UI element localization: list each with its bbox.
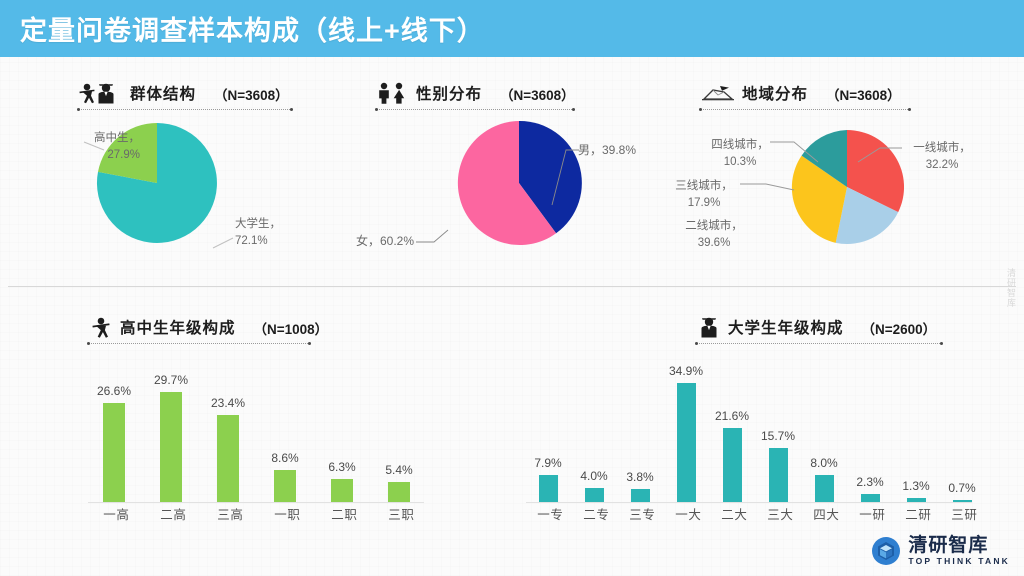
bar-职一[interactable] bbox=[274, 470, 296, 502]
bar-category-label: 大三 bbox=[765, 508, 791, 521]
pie-label-tier2: 二线城市， 39.6% bbox=[668, 218, 760, 251]
x-axis-line bbox=[526, 502, 972, 503]
brand-logo: 清研智库 TOP THINK TANK bbox=[871, 536, 1010, 566]
bar-专二[interactable] bbox=[585, 488, 604, 502]
bar-value-label: 1.3% bbox=[902, 479, 929, 493]
bar-category-label: 大二 bbox=[719, 508, 745, 521]
bar-category-label: 高一 bbox=[101, 508, 127, 521]
bar-value-label: 29.7% bbox=[154, 373, 188, 387]
chart-sample-highschool: （N=1008） bbox=[254, 318, 329, 338]
map-icon bbox=[700, 82, 736, 104]
chart-title-group: 群体结构 bbox=[130, 82, 196, 104]
chart-header-gender: 性别分布 （N=3608） bbox=[376, 82, 676, 104]
bar-value-label: 4.0% bbox=[580, 469, 607, 483]
bar-chart-highschool: 26.6%高一29.7%高二23.4%高三8.6%职一6.3%职二5.4%职三 bbox=[88, 354, 428, 504]
student-teacher-icon bbox=[78, 82, 124, 104]
bar-value-label: 26.6% bbox=[97, 384, 131, 398]
pie-label-female: 女，60.2% bbox=[314, 233, 414, 250]
brand-name-cn: 清研智库 bbox=[908, 536, 1010, 555]
bar-大一[interactable] bbox=[677, 383, 696, 502]
chart-card-region: 地域分布 （N=3608） 四线城市， 10.3% 一线城市， 32.2% bbox=[700, 82, 1010, 272]
graduate-icon bbox=[696, 316, 722, 338]
pie-label-college: 大学生， 72.1% bbox=[235, 216, 281, 249]
bar-高二[interactable] bbox=[160, 392, 182, 502]
header-rule bbox=[700, 108, 910, 110]
bar-category-label: 职二 bbox=[329, 508, 355, 521]
bar-value-label: 3.8% bbox=[626, 470, 653, 484]
running-student-icon bbox=[88, 316, 114, 338]
chart-header-highschool: 高中生年级构成 （N=1008） bbox=[88, 316, 468, 338]
brand-name-en: TOP THINK TANK bbox=[908, 557, 1010, 566]
chart-sample-college: （N=2600） bbox=[862, 318, 937, 338]
chart-title-gender: 性别分布 bbox=[416, 82, 482, 104]
header-rule bbox=[78, 108, 292, 110]
bar-value-label: 5.4% bbox=[385, 463, 412, 477]
header-rule bbox=[88, 342, 310, 344]
cube-logo-icon bbox=[871, 536, 901, 566]
bar-value-label: 23.4% bbox=[211, 396, 245, 410]
chart-card-gender: 性别分布 （N=3608） 男，39.8% 女，60.2% bbox=[376, 82, 676, 272]
bar-value-label: 34.9% bbox=[669, 364, 703, 378]
bar-category-label: 大一 bbox=[673, 508, 699, 521]
bar-大四[interactable] bbox=[815, 475, 834, 502]
bar-category-label: 职三 bbox=[386, 508, 412, 521]
pie-label-tier3: 三线城市， 17.9% bbox=[658, 178, 750, 211]
bar-研三[interactable] bbox=[953, 500, 972, 502]
bar-value-label: 7.9% bbox=[534, 456, 561, 470]
bar-category-label: 专一 bbox=[535, 508, 561, 521]
bar-专一[interactable] bbox=[539, 475, 558, 502]
header-rule bbox=[696, 342, 942, 344]
brand-logo-text: 清研智库 TOP THINK TANK bbox=[908, 536, 1010, 566]
chart-title-highschool: 高中生年级构成 bbox=[120, 316, 236, 338]
bar-category-label: 高二 bbox=[158, 508, 184, 521]
pie-label-tier4: 四线城市， 10.3% bbox=[694, 137, 786, 170]
bar-category-label: 职一 bbox=[272, 508, 298, 521]
watermark-text: 清研智库 bbox=[1005, 268, 1018, 308]
bar-大二[interactable] bbox=[723, 428, 742, 502]
slide-title-bar: 定量问卷调查样本构成（线上+线下） bbox=[0, 0, 1024, 57]
header-rule bbox=[376, 108, 574, 110]
bar-category-label: 高三 bbox=[215, 508, 241, 521]
bar-category-label: 研一 bbox=[857, 508, 883, 521]
bar-category-label: 专三 bbox=[627, 508, 653, 521]
chart-card-college: 大学生年级构成 （N=2600） 7.9%专一4.0%专二3.8%专三34.9%… bbox=[520, 316, 1000, 536]
chart-sample-gender: （N=3608） bbox=[500, 84, 575, 104]
chart-header-region: 地域分布 （N=3608） bbox=[700, 82, 1010, 104]
chart-title-college: 大学生年级构成 bbox=[728, 316, 844, 338]
chart-sample-group: （N=3608） bbox=[214, 84, 289, 104]
chart-title-region: 地域分布 bbox=[742, 82, 808, 104]
bar-category-label: 研二 bbox=[903, 508, 929, 521]
bar-研二[interactable] bbox=[907, 498, 926, 502]
bar-value-label: 2.3% bbox=[856, 475, 883, 489]
bar-category-label: 研三 bbox=[949, 508, 975, 521]
bar-category-label: 大四 bbox=[811, 508, 837, 521]
bar-value-label: 0.7% bbox=[948, 481, 975, 495]
male-female-icon bbox=[376, 82, 410, 104]
bar-高一[interactable] bbox=[103, 403, 125, 502]
chart-header-college: 大学生年级构成 （N=2600） bbox=[520, 316, 1000, 338]
section-divider bbox=[8, 286, 1016, 287]
bar-职二[interactable] bbox=[331, 479, 353, 502]
bar-研一[interactable] bbox=[861, 494, 880, 502]
bar-高三[interactable] bbox=[217, 415, 239, 502]
bar-value-label: 6.3% bbox=[328, 460, 355, 474]
bar-职三[interactable] bbox=[388, 482, 410, 502]
chart-card-highschool: 高中生年级构成 （N=1008） 26.6%高一29.7%高二23.4%高三8.… bbox=[88, 316, 468, 536]
pie-label-highschool: 高中生， 27.9% bbox=[20, 130, 140, 163]
bar-value-label: 21.6% bbox=[715, 409, 749, 423]
bar-value-label: 8.6% bbox=[271, 451, 298, 465]
bar-value-label: 8.0% bbox=[810, 456, 837, 470]
bar-category-label: 专二 bbox=[581, 508, 607, 521]
chart-sample-region: （N=3608） bbox=[826, 84, 901, 104]
chart-header-group: 群体结构 （N=3608） bbox=[78, 82, 378, 104]
bar-专三[interactable] bbox=[631, 489, 650, 502]
x-axis-line bbox=[88, 502, 424, 503]
pie-label-male: 男，39.8% bbox=[578, 142, 636, 159]
page-title: 定量问卷调查样本构成（线上+线下） bbox=[0, 9, 485, 48]
bar-大三[interactable] bbox=[769, 448, 788, 502]
slide-page: 定量问卷调查样本构成（线上+线下） bbox=[0, 0, 1024, 576]
pie-label-tier1: 一线城市， 32.2% bbox=[896, 140, 988, 173]
bar-chart-college: 7.9%专一4.0%专二3.8%专三34.9%大一21.6%大二15.7%大三8… bbox=[526, 354, 976, 504]
bar-value-label: 15.7% bbox=[761, 429, 795, 443]
